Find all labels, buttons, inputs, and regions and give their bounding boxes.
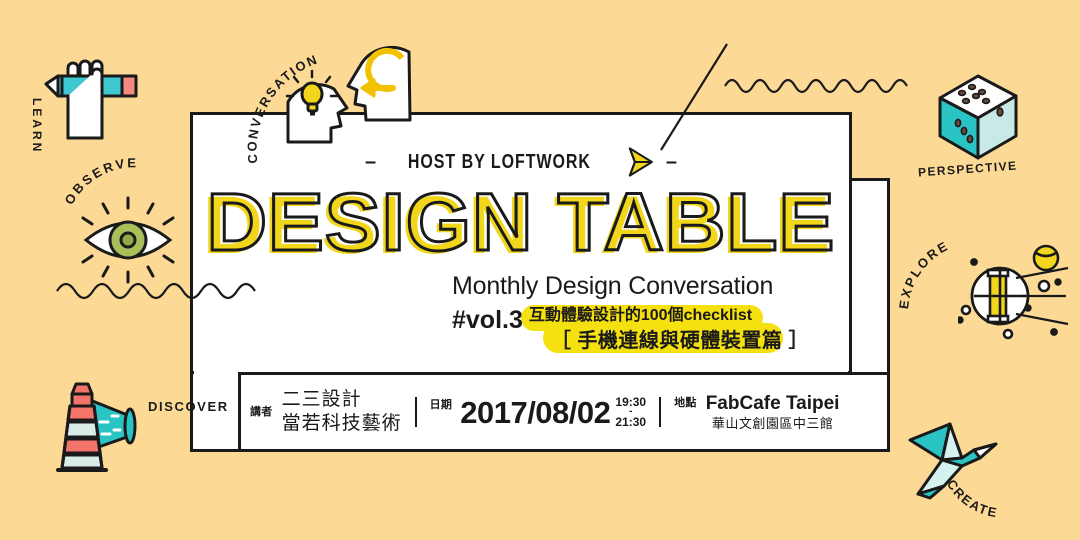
decor-label-create-arc: CREATE — [940, 470, 1050, 535]
venue-label: 地點 — [674, 397, 697, 410]
decor-label-learn: LEARN — [30, 98, 44, 154]
loftwork-arrow-logo — [623, 145, 657, 179]
highlight-text-line-1: 互動體驗設計的100個checklist — [527, 305, 809, 327]
speaker-name-1: 二三設計 — [282, 388, 402, 412]
volume-number: #vol.3 — [452, 305, 523, 335]
diagonal-accent-line — [655, 40, 735, 155]
host-dash-left: – — [365, 152, 376, 172]
event-poster: LEARN OBSERVE — [0, 0, 1080, 540]
time-range: 19:30 - 21:30 — [615, 395, 646, 429]
volume-row: #vol.3 互動體驗設計的100個checklist ［ 手機連線與硬體裝置篇… — [452, 305, 809, 355]
date-label: 日期 — [430, 399, 453, 412]
lighthouse-icon — [52, 378, 172, 478]
page-title: DESIGN TABLE DESIGN TABLE — [190, 182, 852, 264]
highlight-text-line-2: ［ 手機連線與硬體裝置篇 ］ — [527, 327, 809, 355]
host-dash-right: – — [666, 152, 677, 172]
date-value: 2017/08/02 — [460, 397, 610, 428]
event-info-row: 講者 二三設計 當若科技藝術 日期 2017/08/02 19:30 - 21:… — [250, 382, 880, 442]
divider-2 — [659, 397, 661, 427]
dice-icon — [928, 68, 1028, 168]
host-label: HOST BY LOFTWORK — [408, 152, 591, 172]
wave-line-left — [55, 275, 265, 305]
highlight-block: 互動體驗設計的100個checklist ［ 手機連線與硬體裝置篇 ］ — [527, 305, 809, 355]
speaker-name-2: 當若科技藝術 — [282, 412, 402, 436]
subtitle-tagline: Monthly Design Conversation — [452, 272, 852, 301]
speaker-values: 二三設計 當若科技藝術 — [282, 388, 402, 436]
wave-line-top-right — [723, 70, 923, 100]
svg-text:CREATE: CREATE — [944, 477, 1000, 521]
decor-label-discover: DISCOVER — [148, 399, 229, 414]
date-group: 日期 2017/08/02 19:30 - 21:30 — [430, 395, 646, 429]
venue-address: 華山文創園區中三館 — [706, 415, 840, 432]
host-line: – HOST BY LOFTWORK – — [190, 145, 852, 179]
svg-text:EXPLORE: EXPLORE — [896, 238, 951, 310]
divider-1 — [415, 397, 417, 427]
hand-holding-pencil-icon — [38, 52, 148, 162]
venue-group: 地點 FabCafe Taipei 華山文創園區中三館 — [674, 393, 839, 432]
title-outline-layer: DESIGN TABLE — [183, 182, 858, 264]
time-end: 21:30 — [615, 415, 646, 429]
speaker-label: 講者 — [250, 406, 273, 419]
planet-icon — [958, 240, 1073, 340]
speaker-group: 講者 二三設計 當若科技藝術 — [250, 388, 402, 436]
venue-values: FabCafe Taipei 華山文創園區中三館 — [706, 393, 840, 432]
venue-name: FabCafe Taipei — [706, 393, 840, 415]
